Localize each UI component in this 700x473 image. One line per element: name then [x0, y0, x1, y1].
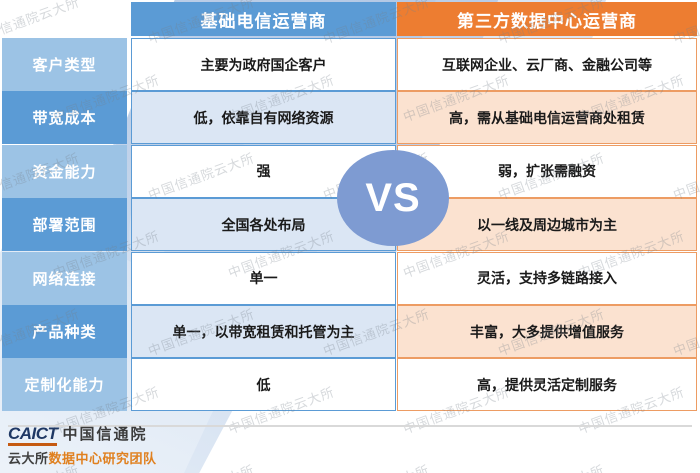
cell-telecom-operator: 低: [131, 358, 396, 411]
row-label: 网络连接: [2, 252, 127, 305]
cell-third-party-idc: 高，提供灵活定制服务: [397, 358, 697, 411]
cell-third-party-idc: 丰富，大多提供增值服务: [397, 305, 697, 358]
logo-team: 数据中心研究团队: [49, 451, 157, 466]
row-label: 部署范围: [2, 198, 127, 251]
row-label: 定制化能力: [2, 358, 127, 411]
cell-telecom-operator: 单一: [131, 252, 396, 305]
table-header-telecom-operator: 基础电信运营商: [131, 2, 396, 36]
logo-secondary-line: 云大所数据中心研究团队: [8, 448, 157, 467]
cell-third-party-idc: 互联网企业、云厂商、金融公司等: [397, 38, 697, 91]
footer-logo: CAICT 中国信通院 云大所数据中心研究团队: [8, 423, 157, 467]
vs-badge: VS: [337, 150, 449, 246]
cell-telecom-operator: 低，依靠自有网络资源: [131, 91, 396, 144]
logo-primary-line: CAICT 中国信通院: [8, 423, 157, 446]
table-header-third-party-idc: 第三方数据中心运营商: [397, 2, 697, 36]
comparison-table: 基础电信运营商 第三方数据中心运营商 客户类型主要为政府国企客户互联网企业、云厂…: [0, 0, 700, 473]
cell-telecom-operator: 单一，以带宽租赁和托管为主: [131, 305, 396, 358]
cell-third-party-idc: 高，需从基础电信运营商处租赁: [397, 91, 697, 144]
row-label: 产品种类: [2, 305, 127, 358]
logo-department: 云大所: [8, 451, 49, 466]
row-label: 带宽成本: [2, 91, 127, 144]
cell-third-party-idc: 灵活，支持多链路接入: [397, 252, 697, 305]
row-label: 客户类型: [2, 38, 127, 91]
caict-chinese-name: 中国信通院: [62, 423, 147, 444]
row-label: 资金能力: [2, 145, 127, 198]
cell-telecom-operator: 主要为政府国企客户: [131, 38, 396, 91]
caict-wordmark: CAICT: [8, 425, 57, 446]
comparison-infographic: C 基础电信运营商 第三方数据中心运营商 客户类型主要为政府国企客户互联网企业、…: [0, 0, 700, 473]
